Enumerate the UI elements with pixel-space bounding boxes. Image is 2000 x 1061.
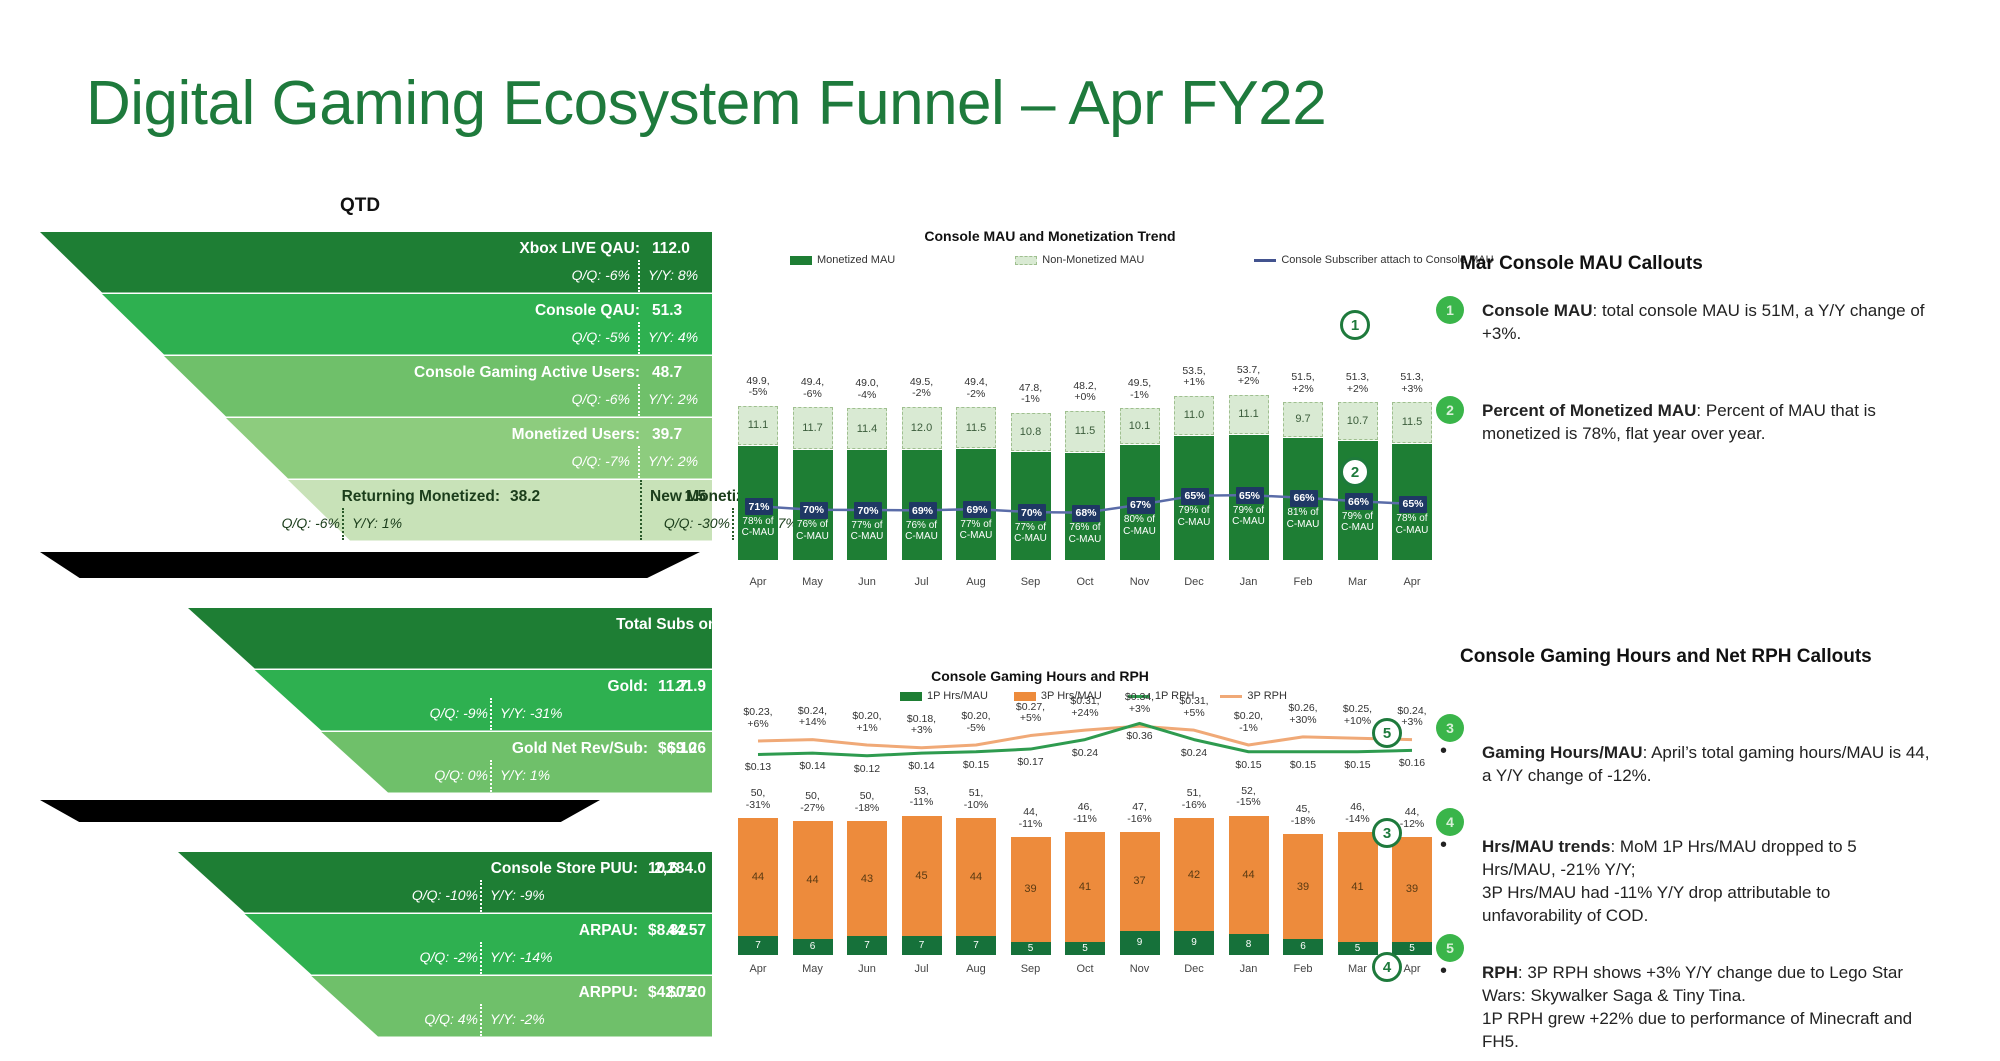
- bar-non-monetized: 11.1: [1229, 395, 1269, 435]
- rph-3p-label: $0.20, -5%: [946, 711, 1006, 735]
- bar-total-label: 51.3, +3%: [1384, 372, 1440, 396]
- funnel-metric-label: ARPPU:: [579, 984, 638, 1002]
- rph-3p-label: $0.18, +3%: [892, 714, 952, 738]
- rph-1p-label: $0.15: [946, 760, 1006, 772]
- bar-total-label: 49.5, -2%: [894, 377, 950, 401]
- subscriber-attach-label: 66%: [1345, 493, 1373, 510]
- bar-total-label: 46, -11%: [1057, 802, 1113, 826]
- legend-label: Non-Monetized MAU: [1042, 254, 1144, 266]
- funnel-qq: Q/Q: -6%: [572, 391, 630, 407]
- funnel-row-main: Xbox LIVE QAU:112.0: [40, 236, 712, 262]
- bar-total-label: 45, -18%: [1275, 804, 1331, 828]
- funnel-yy: Y/Y: 1%: [352, 515, 402, 531]
- funnel-qq: Q/Q: -30%: [664, 515, 730, 531]
- chart-marker-5: 5: [1372, 718, 1402, 748]
- chart-marker-3: 3: [1372, 818, 1402, 848]
- bar-total-label: 53, -11%: [894, 786, 950, 810]
- funnel-metric-value: 2,284.0: [654, 860, 706, 878]
- bar-total-label: 52, -15%: [1221, 786, 1277, 810]
- x-axis-label: Nov: [1114, 963, 1166, 975]
- bar-non-monetized: 11.0: [1174, 396, 1214, 435]
- x-axis-label: Dec: [1168, 576, 1220, 588]
- x-axis-label: Jan: [1223, 963, 1275, 975]
- rph-1p-label: $0.16: [1382, 758, 1442, 770]
- funnel-row-sub: Q/Q: -2%Y/Y: -14%Q/Q: -15%Y/Y: -15%: [178, 945, 712, 969]
- x-axis-label: Sep: [1005, 576, 1057, 588]
- funnel-qq: Q/Q: 4%: [424, 1011, 478, 1027]
- funnel-divider: [638, 446, 640, 478]
- legend-swatch-solid-fill: [790, 256, 812, 265]
- rph-1p-label: $0.15: [1273, 760, 1333, 772]
- funnel-yy: Y/Y: 2%: [648, 453, 698, 469]
- subscriber-attach-label: 69%: [963, 501, 991, 518]
- bar-3p-hours: 39: [1283, 834, 1323, 938]
- funnel-row-main: Gold:11.7Game Pass EXCL PC:21.9: [188, 674, 712, 700]
- funnel-metric-value: 112.0: [652, 240, 690, 258]
- funnel-row-sub: Q/Q: -6%Y/Y: 2%: [40, 387, 712, 411]
- x-axis-label: Apr: [732, 576, 784, 588]
- bar-1p-hours: 9: [1174, 931, 1214, 955]
- funnel-metric-value: 51.3: [652, 302, 682, 320]
- legend-swatch-line: [1254, 259, 1276, 262]
- funnel-users-funnel: Xbox LIVE QAU:112.0Q/Q: -6%Y/Y: 8%Consol…: [40, 232, 712, 542]
- funnel-row-sub: Q/Q: -6%Y/Y: 1%Q/Q: -30%Y/Y: 27%: [40, 511, 712, 535]
- qtd-label: QTD: [340, 195, 380, 217]
- bar-1p-hours: 9: [1120, 931, 1160, 955]
- callout-bullet: •: [1440, 834, 1447, 857]
- bar-3p-hours: 42: [1174, 818, 1214, 931]
- bar-total-label: 51.3, +2%: [1330, 372, 1386, 396]
- funnel-row-sub: Q/Q: -5%Y/Y: 4%: [40, 325, 712, 349]
- bar-total-label: 49.5, -1%: [1112, 378, 1168, 402]
- subscriber-attach-label: 65%: [1236, 487, 1264, 504]
- rph-3p-label: $0.26, +30%: [1273, 703, 1333, 727]
- x-axis-label: Oct: [1059, 963, 1111, 975]
- subscriber-attach-label: 69%: [909, 502, 937, 519]
- bar-1p-hours: 5: [1392, 942, 1432, 955]
- bar-non-monetized: 10.1: [1120, 408, 1160, 444]
- funnel-yy: Y/Y: 1%: [878, 1011, 928, 1027]
- legend-item: 1P Hrs/MAU: [900, 690, 988, 702]
- funnel-yy: Y/Y: -5%: [796, 643, 851, 659]
- bar-total-label: 49.9, -5%: [730, 376, 786, 400]
- funnel-yy: Y/Y: 1%: [500, 767, 550, 783]
- callout-heading: Mar Console MAU Callouts: [1460, 252, 1930, 277]
- funnel-qq: Q/Q: -10%: [412, 887, 478, 903]
- callout-number-1: 1: [1436, 296, 1464, 324]
- funnel-metric-value: $9.26: [667, 740, 706, 758]
- x-axis-label: Nov: [1114, 576, 1166, 588]
- rph-1p-label: $0.13: [728, 762, 788, 774]
- bar-total-label: 49.4, -6%: [785, 377, 841, 401]
- funnel-row-main: Total Subs on Console:33.6: [188, 612, 712, 638]
- bar-1p-hours: 5: [1065, 942, 1105, 955]
- chart-marker-4: 4: [1372, 952, 1402, 982]
- callout-item-text: Percent of Monetized MAU: Percent of MAU…: [1482, 400, 1932, 446]
- funnel-metric-label: Gold:: [608, 678, 648, 696]
- bar-3p-hours: 37: [1120, 832, 1160, 931]
- funnel-row-sub: Q/Q: -9%Y/Y: -31%Q/Q: -7%Y/Y: 25%: [188, 701, 712, 725]
- funnel-yy: Y/Y: -31%: [500, 705, 563, 721]
- bar-1p-hours: 5: [1011, 942, 1051, 955]
- x-axis-label: Oct: [1059, 576, 1111, 588]
- funnel-qq: Q/Q: -6%: [572, 267, 630, 283]
- bar-non-monetized: 12.0: [902, 407, 942, 450]
- funnel-row-main: Console Gaming Active Users:48.7: [40, 360, 712, 386]
- callout-item-text: Hrs/MAU trends: MoM 1P Hrs/MAU dropped t…: [1482, 836, 1932, 928]
- legend-item: 3P RPH: [1220, 690, 1287, 702]
- x-axis-label: Apr: [1386, 576, 1438, 588]
- x-axis-label: Feb: [1277, 963, 1329, 975]
- bar-1p-hours: 7: [847, 936, 887, 955]
- funnel-row-main: Monetized Users:39.7: [40, 422, 712, 448]
- bar-total-label: 53.7, +2%: [1221, 365, 1277, 389]
- bar-total-label: 49.4, -2%: [948, 377, 1004, 401]
- funnel-row-sub: Q/Q: -7%Y/Y: 2%: [40, 449, 712, 473]
- x-axis-label: Aug: [950, 963, 1002, 975]
- rph-1p-label: $0.17: [1001, 757, 1061, 769]
- rph-3p-label: $0.23, +6%: [728, 707, 788, 731]
- funnel-yy: Y/Y: 4%: [648, 329, 698, 345]
- funnel-row-sub: Q/Q: 4%Y/Y: -2%Q/Q: 16%Y/Y: 1%: [178, 1007, 712, 1031]
- funnel-separator-1: [40, 552, 700, 578]
- funnel-metric-label: Returning Monetized:: [342, 488, 500, 506]
- legend-label: Monetized MAU: [817, 254, 895, 266]
- bar-total-label: 50, -31%: [730, 788, 786, 812]
- subscriber-attach-label: 70%: [800, 502, 828, 519]
- bar-1p-hours: 7: [738, 936, 778, 955]
- legend-item: Non-Monetized MAU: [1015, 254, 1144, 266]
- funnel-metric-label: Gold Net Rev/Sub:: [512, 740, 648, 758]
- funnel-metric-value: 44.57: [667, 922, 706, 940]
- bar-1p-hours: 7: [902, 936, 942, 955]
- funnel-qq: Q/Q: -2%: [420, 949, 478, 965]
- bar-total-label: 53.5, +1%: [1166, 366, 1222, 390]
- bar-total-label: 50, -18%: [839, 791, 895, 815]
- bar-1p-hours: 6: [1283, 939, 1323, 955]
- bar-total-label: 51, -10%: [948, 788, 1004, 812]
- funnel-divider: [640, 480, 642, 540]
- x-axis-label: May: [787, 576, 839, 588]
- funnel-row-sub: Q/Q: -10%Y/Y: -9%Q/Q: -19%Y/Y: -12%: [178, 883, 712, 907]
- funnel-metric-value: 39.7: [652, 426, 682, 444]
- funnel-metric-value: 48.7: [652, 364, 682, 382]
- callout-heading: Console Gaming Hours and Net RPH Callout…: [1460, 645, 1930, 670]
- rph-3p-label: $0.20, -1%: [1219, 711, 1279, 735]
- bar-total-label: 51, -16%: [1166, 788, 1222, 812]
- x-axis-label: Jul: [896, 963, 948, 975]
- bar-3p-hours: 39: [1011, 837, 1051, 941]
- bar-non-monetized: 11.1: [738, 406, 778, 446]
- callout-item-bold: RPH: [1482, 963, 1518, 982]
- funnel-row-main: ARPAU:$8.82Hrs Per Gaming AU:44.57: [178, 918, 712, 944]
- funnel-metric-value: 21.9: [676, 678, 706, 696]
- rph-1p-label: $0.14: [892, 761, 952, 773]
- callout-bullet: •: [1440, 960, 1447, 983]
- bar-total-label: 51.5, +2%: [1275, 372, 1331, 396]
- bar-1p-hours: 5: [1338, 942, 1378, 955]
- funnel-metric-label: Monetized Users:: [512, 426, 640, 444]
- funnel-metric-value: $0.20: [667, 984, 706, 1002]
- funnel-divider: [638, 260, 640, 292]
- funnel-qq: Q/Q: -9%: [430, 705, 488, 721]
- legend-swatch-solid-fill: [1014, 692, 1036, 701]
- funnel-row-sub: Q/Q: -6%Y/Y: 8%: [40, 263, 712, 287]
- rph-3p-label: $0.24, +14%: [783, 706, 843, 730]
- rph-1p-label: $0.24: [1055, 748, 1115, 760]
- legend-item: Console Subscriber attach to Console MAU: [1254, 254, 1493, 266]
- bar-3p-hours: 44: [956, 818, 996, 936]
- bar-total-label: 49.0, -4%: [839, 378, 895, 402]
- callout-item-text: Console MAU: total console MAU is 51M, a…: [1482, 300, 1932, 346]
- funnel-divider: [480, 942, 482, 974]
- funnel-qq: Q/Q: 0%: [434, 767, 488, 783]
- callout-number-4: 4: [1436, 808, 1464, 836]
- subscriber-attach-label: 70%: [854, 502, 882, 519]
- rph-1p-label: $0.12: [837, 764, 897, 776]
- funnel-row-sub: Q/Q: -4%Y/Y: -5%: [188, 639, 712, 663]
- bar-total-label: 48.2, +0%: [1057, 381, 1113, 405]
- subscriber-attach-label: 65%: [1399, 496, 1427, 513]
- funnel-qq: Q/Q: -6%: [282, 515, 340, 531]
- funnel-metric-label: Console QAU:: [535, 302, 640, 320]
- rph-3p-label: $0.31, +24%: [1055, 696, 1115, 720]
- bar-3p-hours: 44: [1229, 816, 1269, 934]
- legend-label: 1P Hrs/MAU: [927, 690, 988, 702]
- bar-total-label: 47.8, -1%: [1003, 383, 1059, 407]
- legend-swatch-solid-fill: [900, 692, 922, 701]
- funnel-divider: [638, 384, 640, 416]
- funnel-row-main: Gold Net Rev/Sub:$6.10Game Pass Net Rev/…: [188, 736, 712, 762]
- legend-label: 3P RPH: [1247, 690, 1287, 702]
- bar-non-monetized: 11.5: [1392, 402, 1432, 443]
- bar-non-monetized: 11.5: [1065, 411, 1105, 452]
- funnel-metric-label: ARPAU:: [579, 922, 638, 940]
- rph-1p-label: $0.15: [1328, 760, 1388, 772]
- subscriber-attach-label: 71%: [745, 498, 773, 515]
- x-axis-label: May: [787, 963, 839, 975]
- funnel-metric-label: Console Store PUU:: [491, 860, 638, 878]
- funnel-divider: [870, 1004, 872, 1036]
- x-axis-label: Jun: [841, 576, 893, 588]
- bar-3p-hours: 41: [1065, 832, 1105, 942]
- funnel-divider: [786, 636, 788, 668]
- funnel-qq: Q/Q: -4%: [720, 643, 778, 659]
- callout-item-rest: : 3P RPH shows +3% Y/Y change due to Leg…: [1482, 963, 1912, 1051]
- callout-item-text: RPH: 3P RPH shows +3% Y/Y change due to …: [1482, 962, 1932, 1054]
- rph-1p-label: $0.24: [1164, 748, 1224, 760]
- bar-non-monetized: 11.5: [956, 407, 996, 448]
- funnel-metric-value: 1.5: [684, 488, 706, 506]
- funnel-row-main: Returning Monetized:38.2New Monetized:1.…: [40, 484, 712, 510]
- rph-1p-label: $0.15: [1219, 760, 1279, 772]
- funnel-qq: Q/Q: -7%: [572, 453, 630, 469]
- funnel-metric-label: RPH:: [788, 984, 826, 1002]
- x-axis-label: Jun: [841, 963, 893, 975]
- funnel-row-main: ARPPU:$42.75RPH:$0.20: [178, 980, 712, 1006]
- bar-3p-hours: 41: [1338, 832, 1378, 942]
- x-axis-label: Apr: [732, 963, 784, 975]
- bar-3p-hours: 44: [793, 821, 833, 939]
- chart-marker-2: 2: [1340, 457, 1370, 487]
- bar-non-monetized: 11.4: [847, 408, 887, 449]
- funnel-divider: [480, 1004, 482, 1036]
- funnel-divider: [778, 852, 780, 912]
- callout-item-bold: Hrs/MAU trends: [1482, 837, 1610, 856]
- callout-number-5: 5: [1436, 934, 1464, 962]
- callout-item-bold: Percent of Monetized MAU: [1482, 401, 1696, 420]
- subscriber-attach-label: 67%: [1127, 497, 1155, 514]
- funnel-divider: [490, 698, 492, 730]
- bar-3p-hours: 39: [1392, 837, 1432, 941]
- funnel-divider: [638, 322, 640, 354]
- subscriber-attach-label: 66%: [1290, 490, 1318, 507]
- funnel-row-sub: Q/Q: 0%Y/Y: 1%Q/Q: 14%Y/Y: 12%: [188, 763, 712, 787]
- bar-total-label: 47, -16%: [1112, 802, 1168, 826]
- bar-3p-hours: 45: [902, 816, 942, 937]
- callout-item-bold: Gaming Hours/MAU: [1482, 743, 1643, 762]
- funnel-divider: [490, 760, 492, 792]
- x-axis-label: Feb: [1277, 576, 1329, 588]
- x-axis-label: Sep: [1005, 963, 1057, 975]
- callout-number-2: 2: [1436, 396, 1464, 424]
- funnel-divider: [732, 508, 734, 540]
- funnel-qq: Q/Q: 16%: [807, 1011, 868, 1027]
- funnel-divider: [342, 508, 344, 540]
- funnel-yy: Y/Y: 2%: [648, 391, 698, 407]
- x-axis-label: Aug: [950, 576, 1002, 588]
- bar-3p-hours: 44: [738, 818, 778, 936]
- bar-non-monetized: 9.7: [1283, 402, 1323, 437]
- funnel-metric-label: Total Subs on Console:: [616, 616, 788, 634]
- funnel-qq: Q/Q: -5%: [572, 329, 630, 345]
- rph-3p-label: $0.20, +1%: [837, 711, 897, 735]
- chart-title-rph: Console Gaming Hours and RPH: [890, 668, 1190, 684]
- callout-number-3: 3: [1436, 714, 1464, 742]
- rph-3p-label: $0.34, +3%: [1110, 692, 1170, 716]
- x-axis-label: Jul: [896, 576, 948, 588]
- rph-3p-label: $0.27, +5%: [1001, 702, 1061, 726]
- funnel-metric-label: Xbox LIVE QAU:: [519, 240, 640, 258]
- legend-item: Monetized MAU: [790, 254, 895, 266]
- bar-total-label: 44, -11%: [1003, 807, 1059, 831]
- funnel-divider: [480, 880, 482, 912]
- subscriber-attach-label: 65%: [1181, 488, 1209, 505]
- funnel-metric-value: 33.6: [800, 616, 830, 634]
- bar-non-monetized: 10.7: [1338, 402, 1378, 440]
- rph-1p-label: $0.36: [1110, 731, 1170, 743]
- rph-3p-label: $0.31, +5%: [1164, 696, 1224, 720]
- x-axis-label: Jan: [1223, 576, 1275, 588]
- x-axis-label: Dec: [1168, 963, 1220, 975]
- bar-non-monetized: 11.7: [793, 407, 833, 449]
- page-title: Digital Gaming Ecosystem Funnel – Apr FY…: [86, 68, 1326, 139]
- callout-item-text: Gaming Hours/MAU: April’s total gaming h…: [1482, 742, 1932, 788]
- subscriber-attach-label: 70%: [1018, 504, 1046, 521]
- callout-item-bold: Console MAU: [1482, 301, 1593, 320]
- bar-1p-hours: 8: [1229, 934, 1269, 955]
- x-axis-label: Mar: [1332, 576, 1384, 588]
- funnel-metric-label: Game Pass Net Rev/Sub: [798, 740, 977, 758]
- funnel-divider: [778, 976, 780, 1036]
- chart-title-console-mau: Console MAU and Monetization Trend: [900, 228, 1200, 244]
- funnel-metric-label: Console Gaming Active Users:: [414, 364, 640, 382]
- bar-non-monetized: 10.8: [1011, 413, 1051, 451]
- callout-bullet: •: [1440, 740, 1447, 763]
- chart-marker-1: 1: [1340, 310, 1370, 340]
- bar-3p-hours: 43: [847, 821, 887, 936]
- funnel-subs-funnel: Total Subs on Console:33.6Q/Q: -4%Y/Y: -…: [188, 608, 712, 794]
- bar-1p-hours: 6: [793, 939, 833, 955]
- subscriber-attach-label: 68%: [1072, 505, 1100, 522]
- rph-1p-label: $0.14: [783, 761, 843, 773]
- funnel-yy: Y/Y: 8%: [648, 267, 698, 283]
- funnel-separator-2: [40, 800, 600, 822]
- funnel-row-main: Console Store PUU:10.6Game Hours:2,284.0: [178, 856, 712, 882]
- funnel-row-main: Console QAU:51.3: [40, 298, 712, 324]
- legend-swatch-dashed-fill: [1015, 256, 1037, 265]
- bar-total-label: 50, -27%: [785, 791, 841, 815]
- funnel-metric-value: 38.2: [510, 488, 540, 506]
- bar-1p-hours: 7: [956, 936, 996, 955]
- funnel-yy: Y/Y: -2%: [490, 1011, 545, 1027]
- funnel-monetization-funnel: Console Store PUU:10.6Game Hours:2,284.0…: [178, 852, 712, 1038]
- funnel-yy: Y/Y: -14%: [490, 949, 553, 965]
- funnel-yy: Y/Y: -9%: [490, 887, 545, 903]
